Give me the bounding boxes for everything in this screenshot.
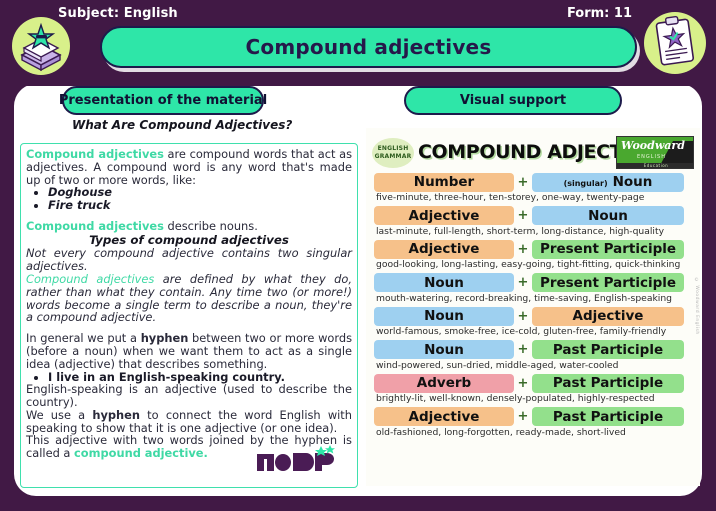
bullet-list-1: Doghouse Fire truck <box>48 186 352 211</box>
row-examples: world-famous, smoke-free, ice-cold, glut… <box>366 326 700 338</box>
chip-left: Noun <box>374 273 514 292</box>
plus-icon: + <box>514 208 532 223</box>
row-examples: mouth-watering, record-breaking, time-sa… <box>366 293 700 305</box>
chip-right: Present Participle <box>532 273 684 292</box>
tab-presentation-label: Presentation of the material <box>59 93 267 108</box>
chip-left: Adjective <box>374 206 514 225</box>
lesson-text-box: Compound adjectives are compound words t… <box>20 143 358 488</box>
formula-row: Noun + Past Participle wind-powered, sun… <box>366 340 700 374</box>
chip-right: Noun <box>532 206 684 225</box>
plus-icon: + <box>514 242 532 257</box>
formula-row: Number + (singular)Noun five-minute, thr… <box>366 172 700 206</box>
clipboard-star-mascot-icon <box>644 12 706 74</box>
paragraph-1: Compound adjectives are compound words t… <box>26 148 352 186</box>
chip-left: Number <box>374 173 514 192</box>
formula-chips: Noun + Adjective <box>366 306 700 326</box>
accent-term-2: Compound adjectives <box>26 219 164 233</box>
plus-icon: + <box>514 342 532 357</box>
english-grammar-badge-icon: ENGLISH GRAMMAR <box>372 138 414 168</box>
tab-presentation[interactable]: Presentation of the material <box>62 86 264 115</box>
formula-row: Adjective + Noun last-minute, full-lengt… <box>366 206 700 240</box>
formula-chips: Adjective + Present Participle <box>366 239 700 259</box>
formula-row: Noun + Present Participle mouth-watering… <box>366 273 700 307</box>
page-header: Subject: English Form: 11 Compound adjec… <box>0 0 716 86</box>
formula-chips: Adverb + Past Participle <box>366 373 700 393</box>
formula-chips: Number + (singular)Noun <box>366 172 700 192</box>
page-title: Compound adjectives <box>100 26 637 68</box>
row-examples: brightly-lit, well-known, densely-popula… <box>366 393 700 405</box>
infographic-header: ENGLISH GRAMMAR COMPOUND ADJECTIVES Wood… <box>366 136 700 170</box>
sub-heading: Types of compound adjectives <box>26 233 352 247</box>
subject-label: Subject: English <box>58 6 178 21</box>
formula-chips: Adjective + Past Participle <box>366 407 700 427</box>
side-watermark: © Woodward English <box>694 278 699 335</box>
formula-chips: Adjective + Noun <box>366 206 700 226</box>
paragraph-2: Compound adjectives describe nouns. <box>26 220 352 233</box>
books-star-mascot-icon <box>12 17 70 75</box>
badge-line-1: ENGLISH <box>378 145 409 153</box>
row-examples: wind-powered, sun-dried, middle-aged, wa… <box>366 360 700 372</box>
formula-chips: Noun + Present Participle <box>366 273 700 293</box>
woodward-english-logo: Woodward ENGLISH Education <box>616 136 694 169</box>
badge-line-2: GRAMMAR <box>375 153 412 161</box>
paragraph-2-rest: describe nouns. <box>164 219 258 233</box>
logo-brand-sub: ENGLISH <box>637 154 666 160</box>
row-examples: good-looking, long-lasting, easy-going, … <box>366 259 700 271</box>
row-examples: old-fashioned, long-forgotten, ready-mad… <box>366 427 700 439</box>
plus-icon: + <box>514 376 532 391</box>
left-panel-heading: What Are Compound Adjectives? <box>72 118 292 132</box>
chip-right-text: Noun <box>613 174 653 190</box>
page-title-text: Compound adjectives <box>246 35 492 59</box>
paragraph-3: Not every compound adjective contains tw… <box>26 247 352 273</box>
chip-left: Adjective <box>374 240 514 259</box>
logo-brand-sub2: Education <box>617 163 694 168</box>
form-label: Form: 11 <box>567 6 632 21</box>
chip-right: Adjective <box>532 307 684 326</box>
plus-icon: + <box>514 409 532 424</box>
formula-row: Adjective + Present Participle good-look… <box>366 239 700 273</box>
row-examples: five-minute, three-hour, ten-storey, one… <box>366 192 700 204</box>
formula-row: Adverb + Past Participle brightly-lit, w… <box>366 373 700 407</box>
formula-rows: Number + (singular)Noun five-minute, thr… <box>366 172 700 440</box>
chip-right: Past Participle <box>532 374 684 393</box>
list-item: Fire truck <box>48 199 352 212</box>
logo-brand-name: Woodward <box>621 139 685 152</box>
chip-left: Noun <box>374 307 514 326</box>
mobip-watermark-logo <box>255 445 347 475</box>
plus-icon: + <box>514 309 532 324</box>
chip-right: (singular)Noun <box>532 173 684 192</box>
formula-row: Noun + Adjective world-famous, smoke-fre… <box>366 306 700 340</box>
visual-support-panel: ENGLISH GRAMMAR COMPOUND ADJECTIVES Wood… <box>366 128 700 486</box>
chip-right: Past Participle <box>532 340 684 359</box>
paragraph-5: In general we put a hyphen between two o… <box>26 332 352 370</box>
presentation-panel: What Are Compound Adjectives? Compound a… <box>14 118 360 496</box>
chip-left: Adjective <box>374 407 514 426</box>
chip-left: Noun <box>374 340 514 359</box>
chip-qualifier: (singular) <box>564 179 608 188</box>
accent-term-4: compound adjective. <box>74 446 208 460</box>
plus-icon: + <box>514 175 532 190</box>
formula-row: Adjective + Past Participle old-fashione… <box>366 407 700 441</box>
tab-visual-label: Visual support <box>460 93 566 108</box>
plus-icon: + <box>514 275 532 290</box>
chip-left: Adverb <box>374 374 514 393</box>
chip-right: Past Participle <box>532 407 684 426</box>
formula-chips: Noun + Past Participle <box>366 340 700 360</box>
paragraph-4: Compound adjectives are defined by what … <box>26 273 352 324</box>
tab-visual[interactable]: Visual support <box>404 86 622 115</box>
chip-right: Present Participle <box>532 240 684 259</box>
paragraph-7: We use a hyphen to connect the word Engl… <box>26 409 352 435</box>
row-examples: last-minute, full-length, short-term, lo… <box>366 226 700 238</box>
paragraph-6: English-speaking is an adjective (used t… <box>26 383 352 409</box>
